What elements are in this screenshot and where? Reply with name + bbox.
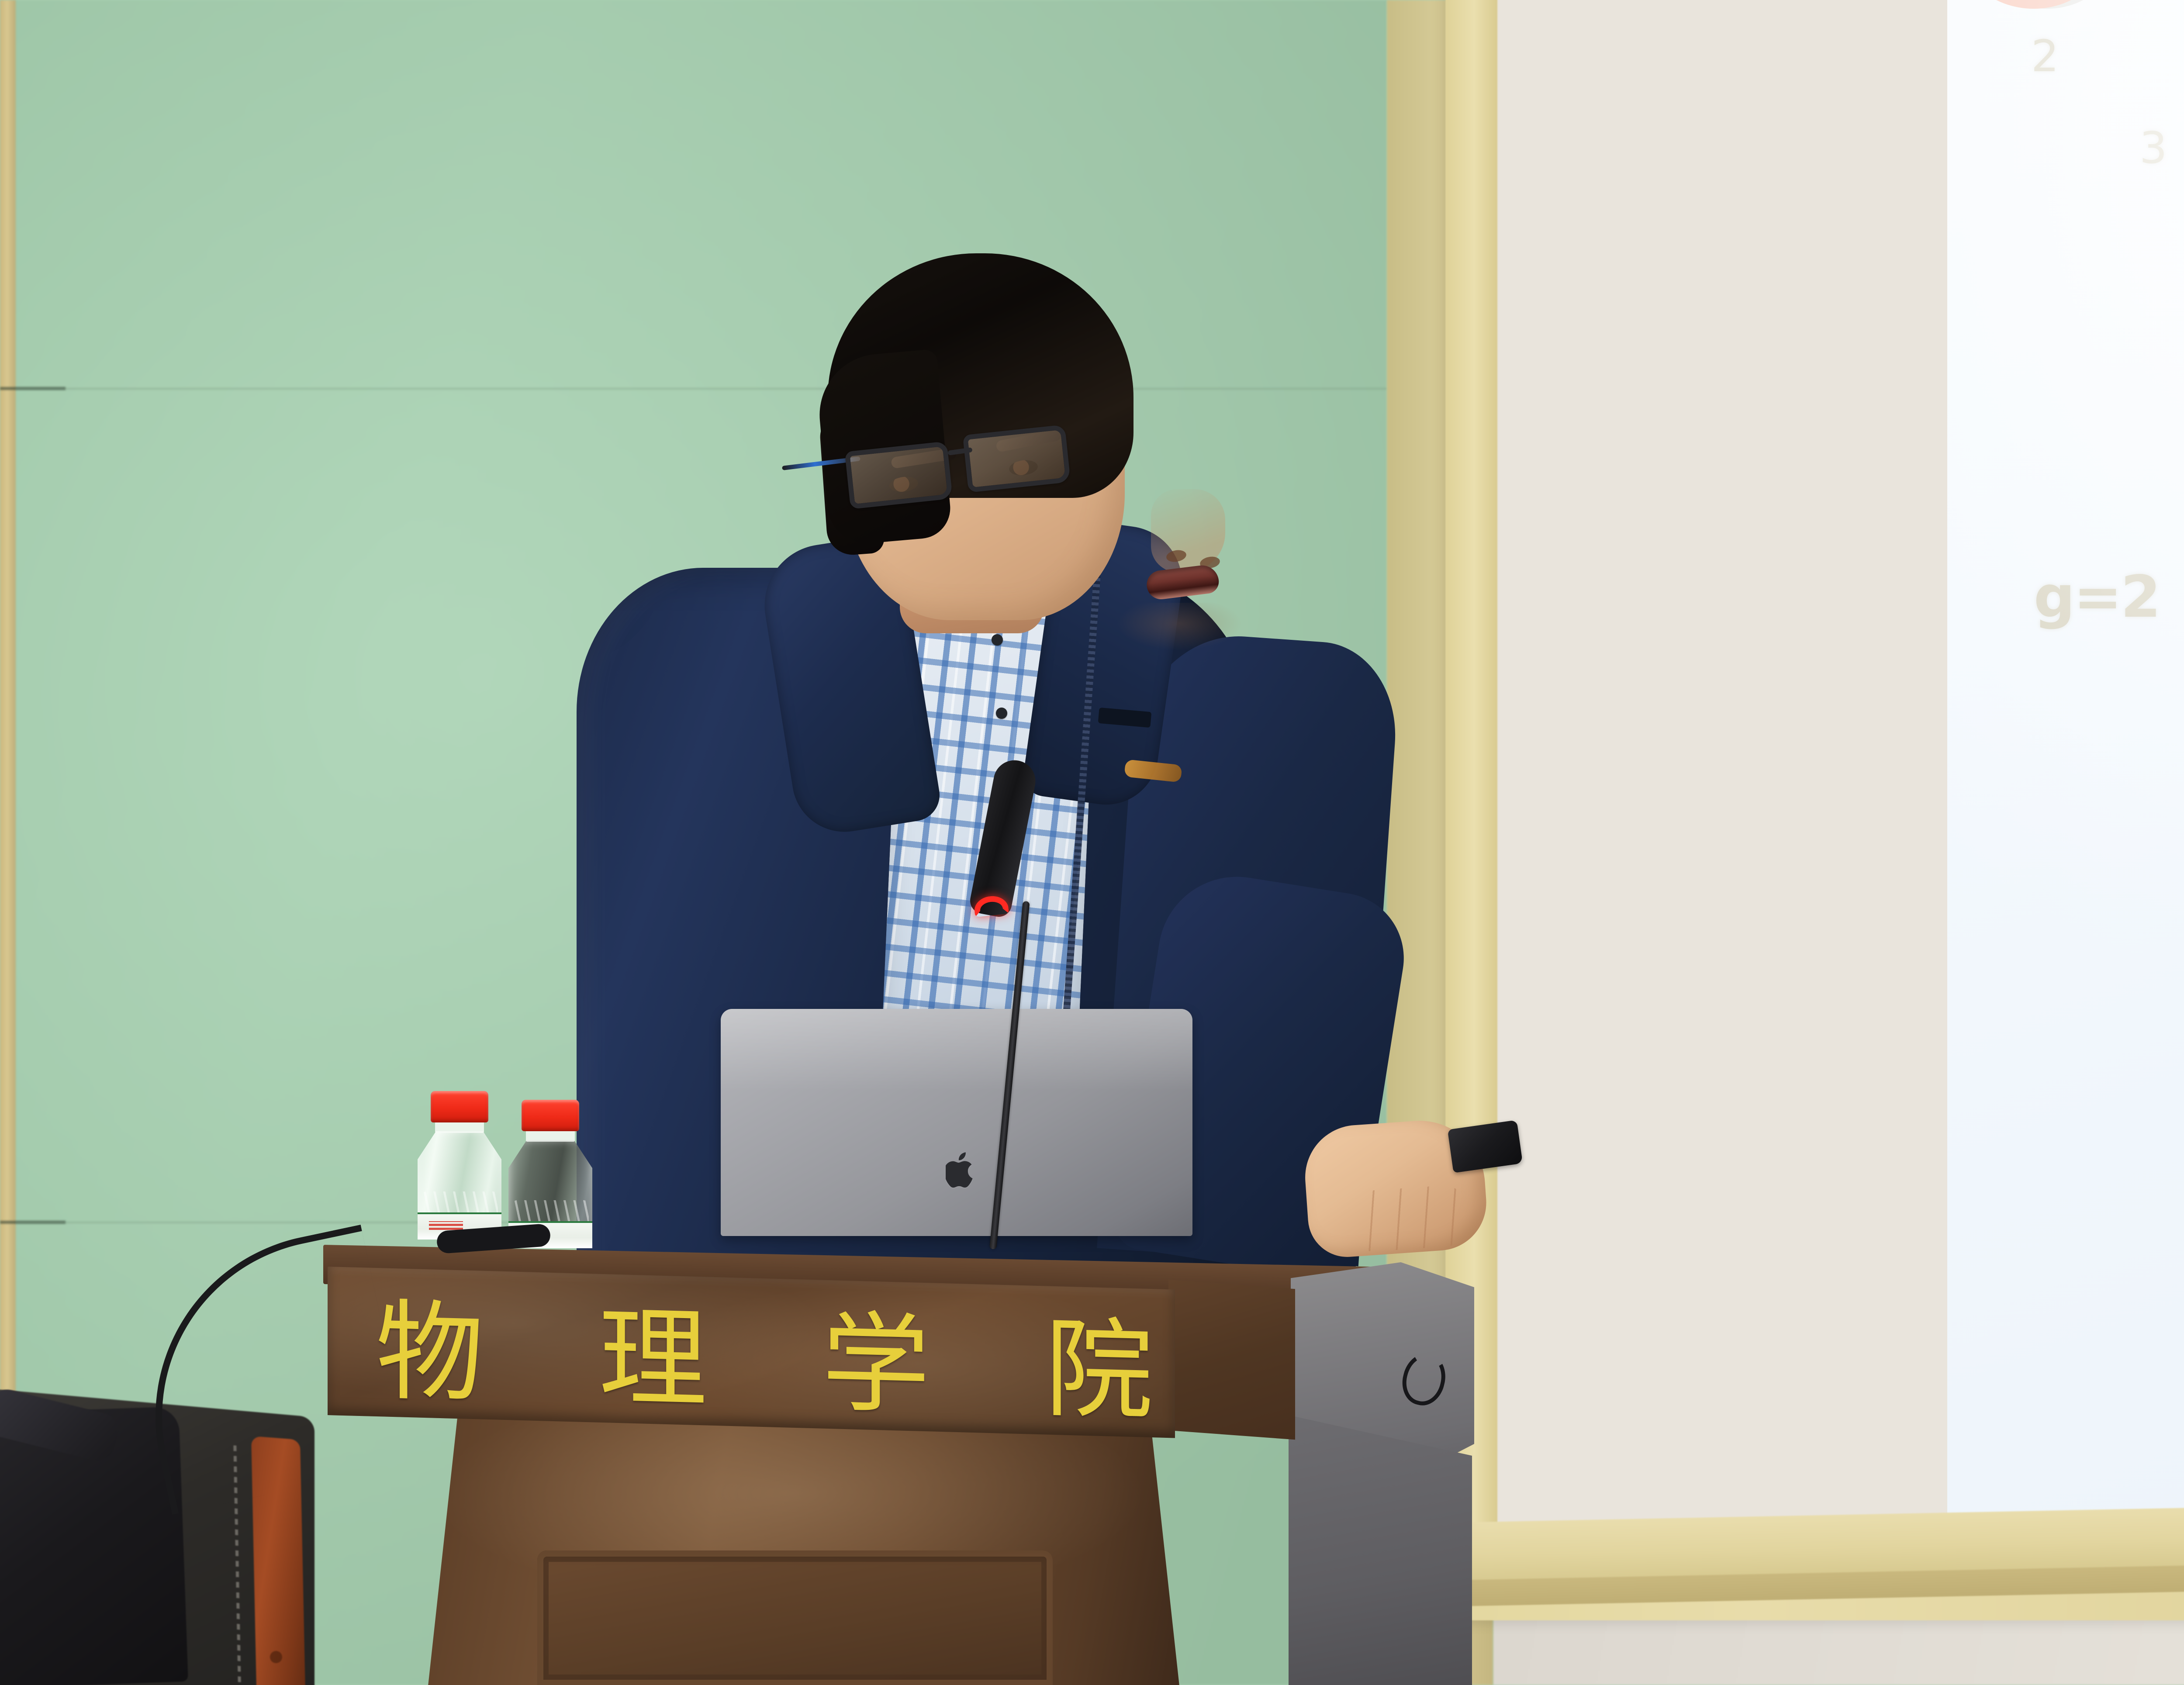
podium-front-right [1168, 1280, 1295, 1440]
glasses [856, 424, 1118, 520]
projection-screen: 2 3 g=2 [1947, 0, 2184, 1524]
podium-sign-char-4: 院 [1045, 1315, 1153, 1426]
water-bottle-left[interactable] [416, 1091, 503, 1240]
slide-label-g2: g=2 [2034, 563, 2160, 631]
podium-raised-panel [537, 1550, 1053, 1685]
bottle-neck [435, 1122, 484, 1133]
podium-sign: 物 理 学 院 [376, 1286, 1153, 1438]
glasses-lens-right [963, 425, 1071, 493]
slide-number-3: 3 [2139, 122, 2167, 173]
shirt-button [992, 634, 1003, 646]
torus-shape [1955, 0, 2112, 9]
podium: 物 理 学 院 [306, 1214, 1572, 1685]
bottle-cap[interactable] [431, 1091, 488, 1122]
shirt-button [996, 708, 1007, 719]
lecture-photo: 2 3 g=2 [0, 0, 2184, 1685]
podium-sign-char-2: 理 [599, 1303, 707, 1414]
bottle-neck [526, 1130, 575, 1142]
torus-shape [2181, 0, 2184, 96]
chair-screw [270, 1651, 282, 1663]
macbook-laptop[interactable] [721, 1009, 1192, 1245]
podium-side-face [1289, 1415, 1472, 1685]
laptop-lid [721, 1009, 1192, 1236]
apple-logo-icon [946, 1151, 978, 1189]
slide-number-2: 2 [2031, 31, 2059, 82]
chin-shadow [1107, 603, 1251, 655]
glasses-lens-left [845, 441, 953, 509]
podium-sign-char-3: 学 [822, 1309, 930, 1420]
bottle-cap[interactable] [522, 1100, 579, 1131]
